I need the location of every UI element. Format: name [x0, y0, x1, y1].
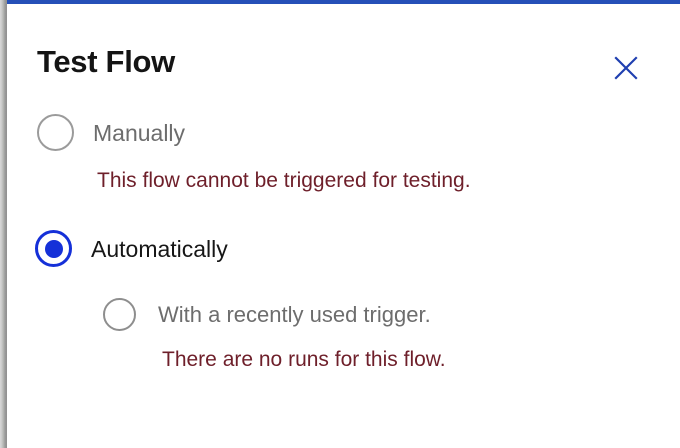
- radio-option-automatically[interactable]: Automatically: [35, 230, 228, 267]
- radio-option-recently-used-trigger[interactable]: With a recently used trigger.: [103, 298, 431, 331]
- radio-indicator-recently-used-trigger[interactable]: [103, 298, 136, 331]
- panel-header: Test Flow: [7, 4, 680, 100]
- radio-label-automatically: Automatically: [91, 235, 228, 263]
- page-title: Test Flow: [37, 44, 175, 80]
- close-icon: [611, 53, 641, 83]
- radio-label-recently-used-trigger: With a recently used trigger.: [158, 301, 431, 329]
- test-flow-panel: Test Flow Manually This flow cannot be t…: [0, 0, 680, 448]
- validation-message-recently-used-trigger: There are no runs for this flow.: [162, 347, 446, 373]
- validation-message-manually: This flow cannot be triggered for testin…: [97, 168, 471, 194]
- radio-option-manually[interactable]: Manually: [37, 114, 185, 151]
- page-edge-shadow: [0, 0, 7, 448]
- panel-body: Manually This flow cannot be triggered f…: [7, 100, 680, 448]
- close-button[interactable]: [605, 47, 647, 89]
- radio-indicator-manually[interactable]: [37, 114, 74, 151]
- radio-indicator-automatically[interactable]: [35, 230, 72, 267]
- radio-label-manually: Manually: [93, 119, 185, 147]
